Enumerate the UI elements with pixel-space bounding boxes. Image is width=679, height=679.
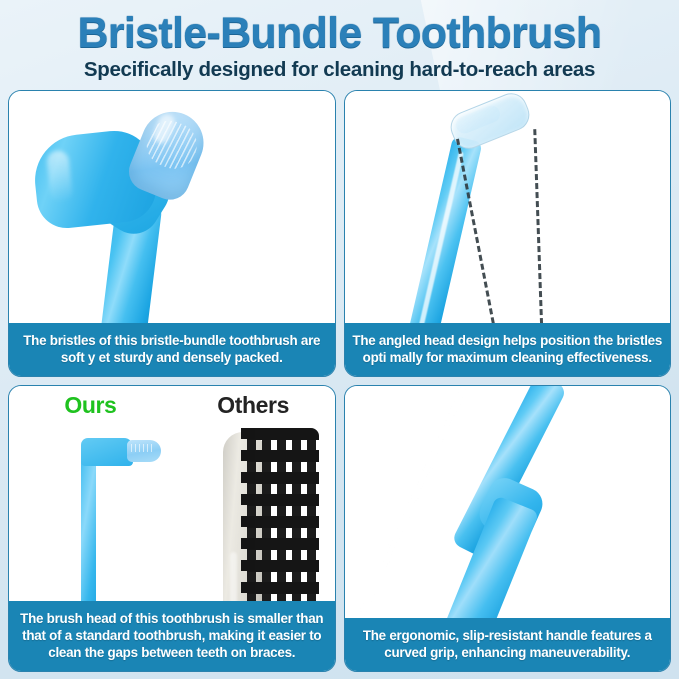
brush-shaft-shape — [401, 136, 482, 323]
ergonomic-handle-image — [345, 386, 671, 618]
angle-guide-line-outer — [533, 129, 544, 323]
ours-bristle-tip-shape — [127, 440, 161, 462]
label-others: Others — [172, 392, 335, 419]
feature-panel-grid: The bristles of this bristle-bundle toot… — [8, 90, 671, 672]
label-ours: Ours — [9, 392, 172, 419]
header: Bristle-Bundle Toothbrush Specifically d… — [0, 0, 679, 92]
handle-highlight-shape — [345, 386, 472, 618]
angled-head-image — [345, 91, 671, 323]
page-title: Bristle-Bundle Toothbrush — [0, 0, 679, 56]
panel-caption: The ergonomic, slip-resistant handle fea… — [345, 618, 671, 671]
panel-comparison: Ours Others The brush head of this tooth… — [8, 385, 336, 672]
ours-handle-shape — [81, 452, 96, 601]
panel-caption: The bristles of this bristle-bundle toot… — [9, 323, 335, 376]
panel-bristle-closeup: The bristles of this bristle-bundle toot… — [8, 90, 336, 377]
comparison-labels: Ours Others — [9, 392, 335, 419]
page-subtitle: Specifically designed for cleaning hard-… — [0, 56, 679, 81]
panel-ergonomic-handle: The ergonomic, slip-resistant handle fea… — [344, 385, 672, 672]
others-bristles-shape — [247, 428, 319, 601]
ours-head-shape — [81, 438, 133, 466]
panel-angled-head: The angled head design helps position th… — [344, 90, 672, 377]
bristle-closeup-image — [9, 91, 335, 323]
comparison-image: Ours Others — [9, 386, 335, 601]
panel-caption: The angled head design helps position th… — [345, 323, 671, 376]
panel-caption: The brush head of this toothbrush is sma… — [9, 601, 335, 671]
